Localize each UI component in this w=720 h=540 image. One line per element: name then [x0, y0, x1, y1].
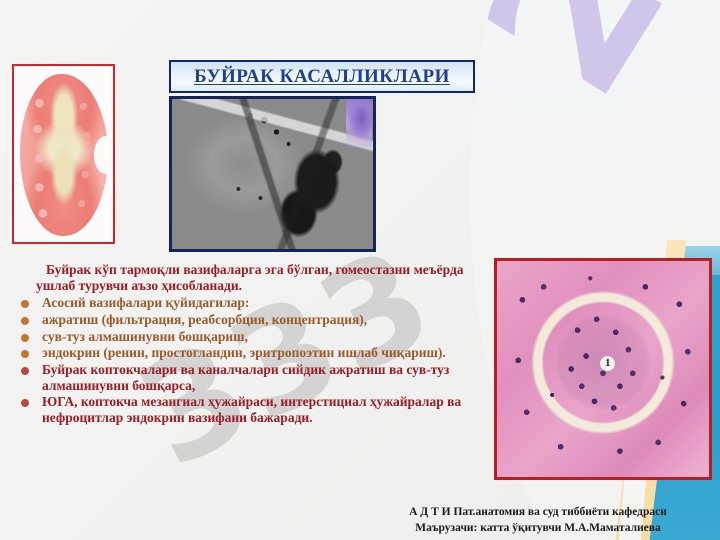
list-item-label: эндокрин (ренин, простогландин, эритропо… — [42, 345, 446, 360]
intro-paragraph: Буйрак кўп тармоқли вазифаларга эга бўлг… — [36, 262, 494, 293]
footer-lecturer-line: Маърузачи: катта ўқитувчи М.А.Маматалиев… — [360, 521, 716, 537]
bullet-dot-icon — [21, 367, 29, 375]
histology-label-1: 1 — [600, 356, 615, 371]
kidney-electron-micrograph-image — [169, 96, 376, 252]
list-item: сув-туз алмашинувни бошқариш, — [14, 329, 494, 345]
list-item: эндокрин (ренин, простогландин, эритропо… — [14, 345, 494, 361]
micrograph-fibers — [172, 99, 373, 249]
slide-title-box: БУЙРАК КАСАЛЛИКЛАРИ — [169, 60, 475, 93]
bullet-dot-icon — [21, 317, 29, 325]
kidney-glomerulus-histology-image: 1 — [494, 258, 712, 480]
bullet-dot-icon — [21, 334, 29, 342]
list-item: ЮГА, коптокча мезангиал ҳужайраси, интер… — [14, 394, 494, 425]
bullet-dot-icon — [21, 300, 29, 308]
list-item: Асосий вазифалари қуйидагилар: — [14, 295, 494, 311]
bullet-dot-icon — [21, 399, 29, 407]
slide-footer: А Д Т И Пат.анатомия ва суд тиббиёти каф… — [360, 505, 716, 536]
page-title: БУЙРАК КАСАЛЛИКЛАРИ — [194, 66, 450, 88]
footer-department-line: А Д Т И Пат.анатомия ва суд тиббиёти каф… — [360, 505, 716, 521]
list-item: Буйрак коптокчалари ва каналчалари сийди… — [14, 362, 494, 393]
list-item: ажратиш (фильтрация, реабсорбция, концен… — [14, 312, 494, 328]
kidney-gross-section-image — [12, 64, 115, 244]
presentation-slide: 333 24 БУЙРАК КАСАЛЛИКЛАРИ 1 Буйрак кўп … — [0, 0, 720, 540]
bullet-list: Асосий вазифалари қуйидагилар: ажратиш (… — [14, 295, 494, 425]
micrograph-purple-stain — [346, 99, 372, 147]
list-item-label: ЮГА, коптокча мезангиал ҳужайраси, интер… — [42, 394, 461, 425]
list-item-label: Буйрак коптокчалари ва каналчалари сийди… — [42, 362, 449, 393]
list-item-label: сув-туз алмашинувни бошқариш, — [42, 329, 248, 344]
list-item-label: ажратиш (фильтрация, реабсорбция, концен… — [42, 312, 367, 327]
list-item-label: Асосий вазифалари қуйидагилар: — [42, 295, 249, 310]
slide-body-content: Буйрак кўп тармоқли вазифаларга эга бўлг… — [14, 262, 494, 427]
kidney-hilum-notch — [94, 136, 115, 174]
bullet-dot-icon — [21, 350, 29, 358]
